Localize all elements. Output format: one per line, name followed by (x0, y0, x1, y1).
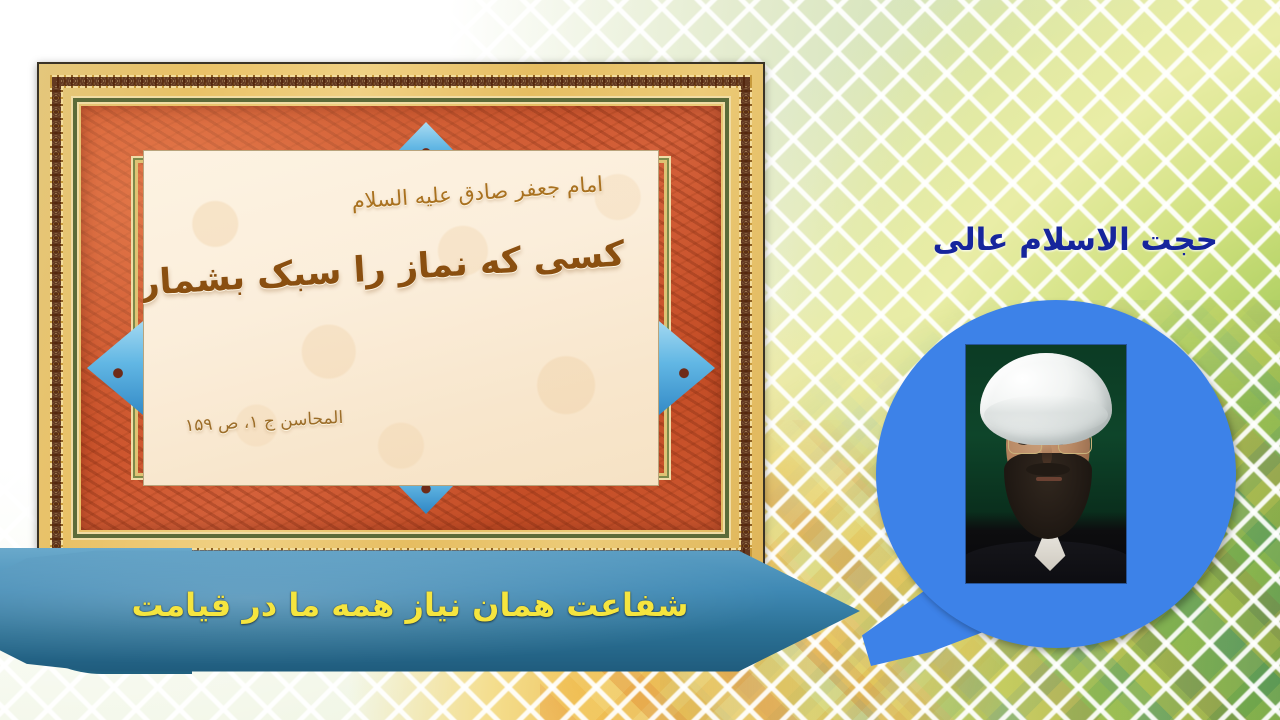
cleric-portrait (966, 345, 1126, 583)
calligraphy-panel: امام جعفر صادق علیه السلام کسی که نماز ر… (143, 150, 659, 486)
calligraphy-plaque: امام جعفر صادق علیه السلام کسی که نماز ر… (37, 62, 765, 574)
banner-caption-text: شفاعت همان نیاز همه ما در قیامت (60, 586, 760, 624)
slide-canvas: امام جعفر صادق علیه السلام کسی که نماز ر… (0, 0, 1280, 720)
portrait-turban-wrap (984, 395, 1108, 435)
portrait-mouth (1036, 477, 1062, 481)
portrait-mustache (1026, 463, 1070, 476)
page-title: حجت الاسلام عالی (933, 222, 1218, 258)
